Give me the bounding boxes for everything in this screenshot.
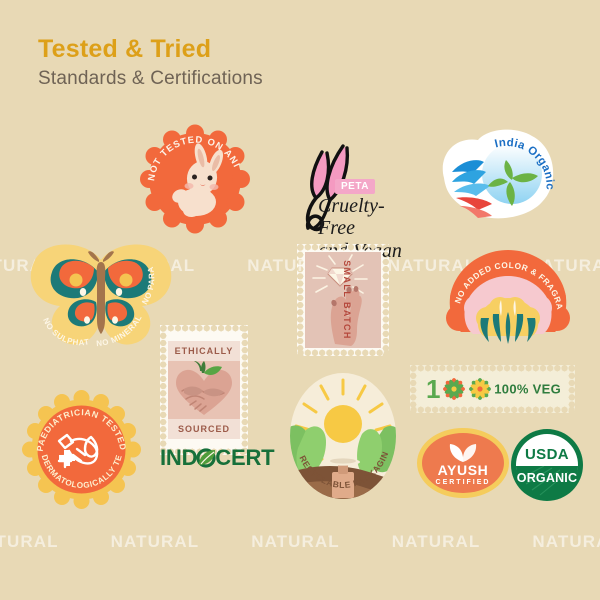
indocert-text-left: IND [160, 447, 197, 469]
badge-no-added-color-fragrance[interactable]: NO ADDED COLOR & FRAGRANCE [443, 246, 573, 346]
badge-label-bottom: SOURCED [168, 419, 240, 439]
sun-bottle-icon: RECYCLABLE PACKAGING [288, 372, 398, 500]
rabbit-icon: NOT TESTED ON ANIMALS [140, 124, 250, 234]
badge-label: SMALL BATCH [342, 260, 352, 340]
watermark-row-bottom: NATURAL NATURAL NATURAL NATURAL NATURAL … [0, 532, 600, 552]
badge-not-tested-on-animals[interactable]: NOT TESTED ON ANIMALS [140, 124, 250, 234]
watermark-text: NATURAL [111, 532, 200, 552]
indocert-wordmark: IND CERT [160, 447, 260, 469]
badge-label-top: ETHICALLY [168, 341, 240, 361]
page-title: Tested & Tried [38, 36, 263, 64]
leaves-icon [446, 441, 480, 463]
badge-indocert[interactable]: IND CERT [160, 447, 260, 477]
page-subtitle: Standards & Certifications [38, 68, 263, 90]
badge-paediatrician-dermatologically-tested[interactable]: PAEDIATRICIAN TESTED DERMATOLOGICALLY TE… [25, 393, 138, 506]
usda-seal-icon: USDA ORGANIC [510, 428, 584, 502]
badge-india-organic[interactable]: India Organic [432, 126, 564, 231]
badge-ethically-sourced[interactable]: ETHICALLY SOURCED [160, 325, 248, 455]
leaf-bird-icon: India Organic [432, 126, 564, 231]
peta-line-1: Cruelty-Free [318, 195, 416, 240]
peta-tag: PETA [335, 179, 375, 194]
badge-ayush-certified[interactable]: AYUSH CERTIFIED [417, 428, 509, 498]
badge-label: 100% VEG [494, 382, 561, 397]
badge-peta-cruelty-free[interactable]: PETA Cruelty-Free and Vegan [286, 140, 416, 250]
indocert-text-right: CERT [215, 447, 274, 469]
badge-usda-organic[interactable]: USDA ORGANIC [510, 428, 584, 502]
ayush-line-2: CERTIFIED [436, 479, 491, 486]
flower-shell-icon: NO ADDED COLOR & FRAGRANCE [443, 246, 573, 346]
leaf-o-icon [196, 447, 216, 469]
badge-100-percent-veg[interactable]: 1 [410, 365, 575, 413]
badge-recyclable-packaging[interactable]: RECYCLABLE PACKAGING [288, 372, 398, 500]
usda-line-1: USDA [525, 446, 569, 463]
ayush-body: AYUSH CERTIFIED [422, 433, 504, 493]
stamp-artwork [168, 361, 240, 419]
page-header: Tested & Tried Standards & Certification… [38, 36, 263, 90]
watermark-text: NATURAL [392, 532, 481, 552]
watermark-text: NATURAL [251, 532, 340, 552]
veg-digit: 1 [426, 376, 440, 402]
pinwheel-flower-icon [440, 372, 496, 406]
heart-handshake-icon [168, 361, 240, 419]
certification-badge-board: NATURAL NATURAL NATURAL NATURAL NATURAL … [0, 0, 600, 600]
hand-drop-cross-icon: PAEDIATRICIAN TESTED DERMATOLOGICALLY TE… [25, 393, 138, 506]
watermark-text: NATURAL [0, 532, 59, 552]
watermark-text: NATURAL [532, 532, 600, 552]
ayush-line-1: AYUSH [438, 463, 489, 477]
badge-small-batch[interactable]: SMALL BATCH [297, 244, 389, 356]
usda-line-2: ORGANIC [517, 471, 577, 485]
